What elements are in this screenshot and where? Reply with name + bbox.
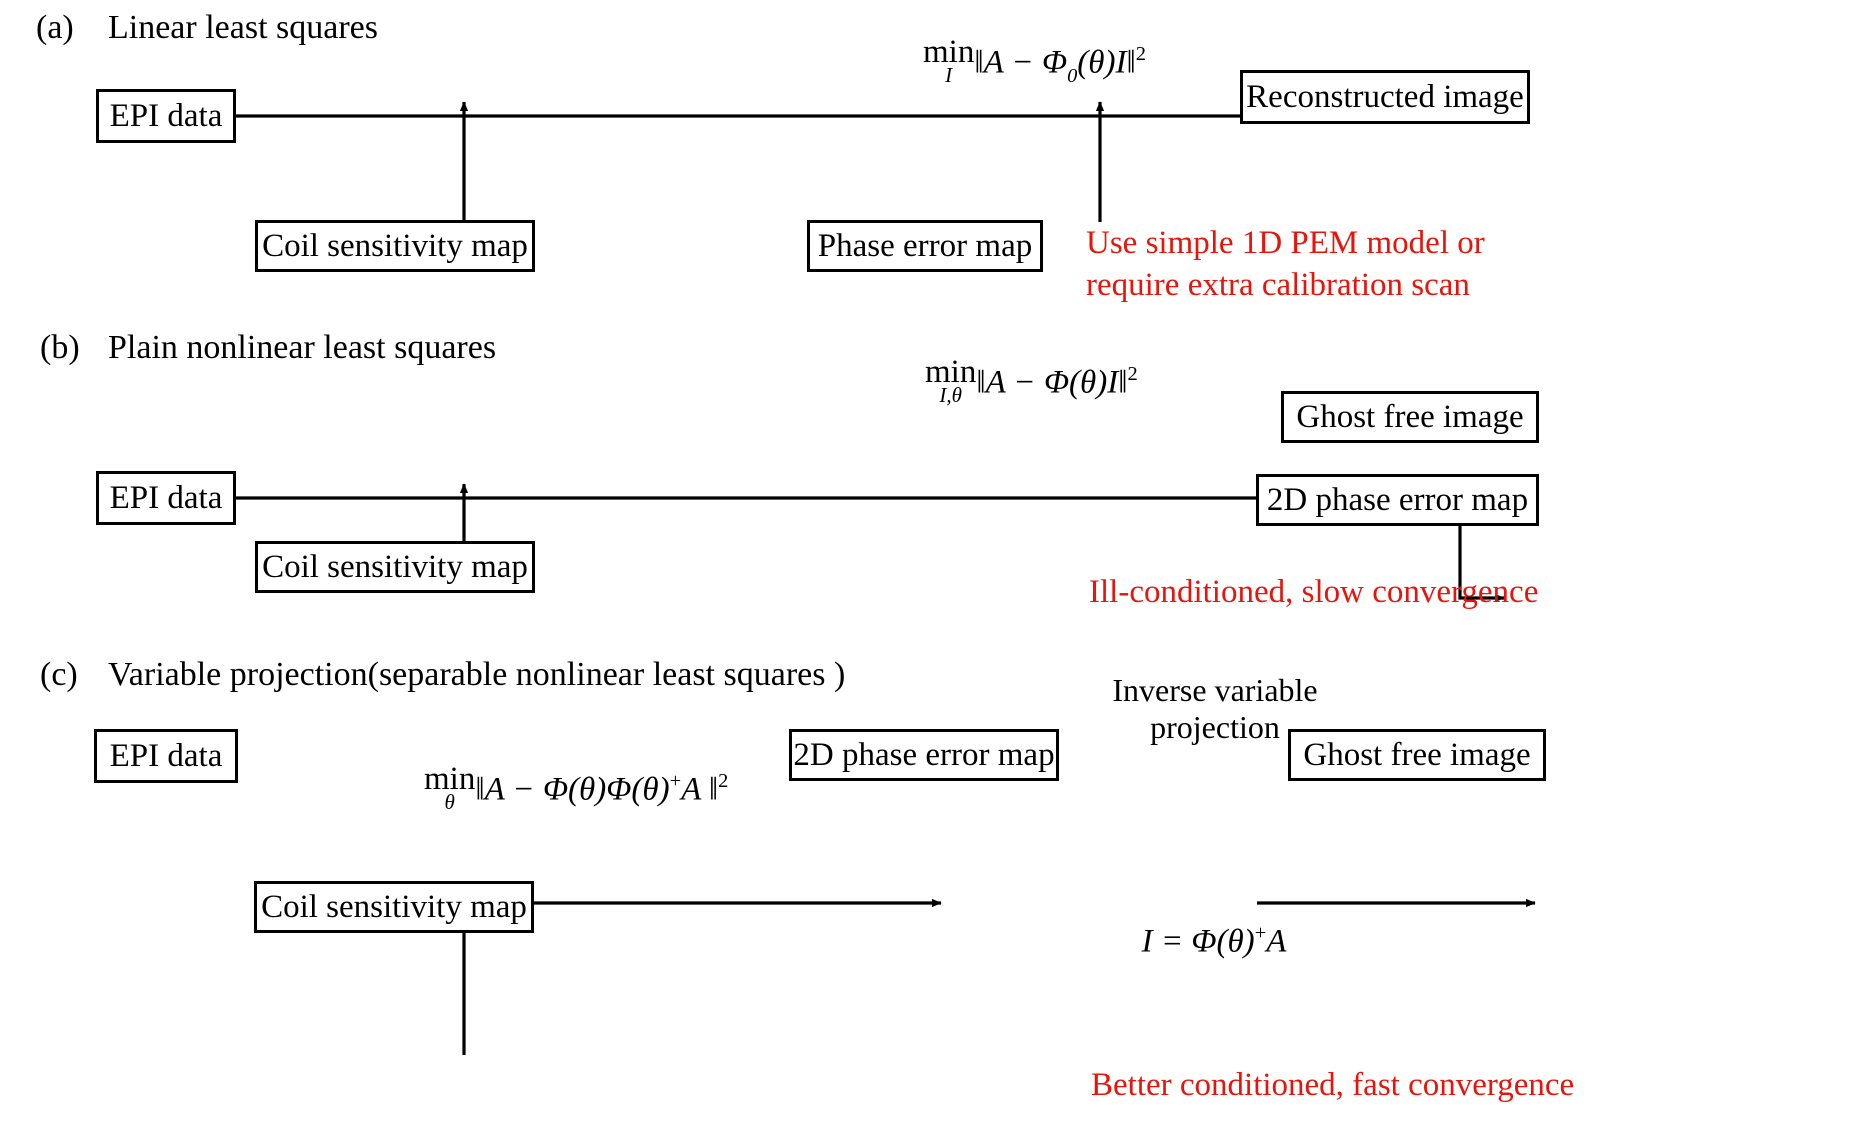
node-a-reconstructed-image[interactable]: Reconstructed image [1240, 70, 1530, 124]
formula-a-body-post: (θ)I‖ [1077, 45, 1135, 81]
panel-a-tag: (a) [36, 8, 74, 48]
node-a-reconstructed-image-label: Reconstructed image [1246, 78, 1524, 116]
node-c-2d-phase-error-map-label: 2D phase error map [793, 736, 1054, 774]
formula-a-body-pre: ‖A − Φ [974, 45, 1067, 81]
node-a-coil-sensitivity-map[interactable]: Coil sensitivity map [255, 220, 535, 272]
formula-a-min: min I [923, 37, 974, 85]
note-a: Use simple 1D PEM model or require extra… [1086, 222, 1485, 306]
note-b-line-1: Ill-conditioned, slow convergence [1089, 571, 1538, 613]
note-b: Ill-conditioned, slow convergence [1089, 571, 1538, 613]
note-c-line-1: Better conditioned, fast convergence [1091, 1064, 1574, 1106]
edge-formula-c-post: A [1266, 924, 1286, 960]
node-c-2d-phase-error-map[interactable]: 2D phase error map [789, 729, 1059, 781]
panel-b-tag: (b) [40, 328, 80, 368]
node-b-coil-sensitivity-map-label: Coil sensitivity map [262, 548, 528, 586]
formula-a-body-subscript: 0 [1067, 65, 1077, 87]
node-c-epi-data-label: EPI data [110, 737, 223, 775]
node-c-coil-sensitivity-map-label: Coil sensitivity map [261, 888, 527, 926]
edge-label-c-inverse-projection: Inverse variable projection [1075, 672, 1355, 746]
note-c: Better conditioned, fast convergence [1091, 1064, 1574, 1106]
node-a-phase-error-map[interactable]: Phase error map [807, 220, 1043, 272]
node-a-phase-error-map-label: Phase error map [818, 227, 1032, 265]
formula-a-body-superscript: 2 [1136, 43, 1146, 65]
formula-a: min I ‖A − Φ0(θ)I‖2 [923, 36, 1146, 94]
node-a-coil-sensitivity-map-label: Coil sensitivity map [262, 227, 528, 265]
formula-c-body-pre: ‖A − Φ(θ)Φ(θ) [475, 772, 669, 808]
node-c-coil-sensitivity-map[interactable]: Coil sensitivity map [254, 881, 534, 933]
formula-b-body-superscript: 2 [1128, 363, 1138, 385]
node-c-epi-data[interactable]: EPI data [94, 729, 238, 783]
edge-label-c-line-1: Inverse variable [1075, 672, 1355, 709]
node-a-epi-data-label: EPI data [110, 97, 223, 135]
node-b-coil-sensitivity-map[interactable]: Coil sensitivity map [255, 541, 535, 593]
formula-b-min: min I,θ [925, 357, 976, 405]
panel-a-title: Linear least squares [108, 8, 378, 48]
edge-formula-c-pre: I = Φ(θ) [1142, 924, 1255, 960]
edge-formula-c-superscript: + [1255, 922, 1267, 944]
node-b-epi-data[interactable]: EPI data [96, 471, 236, 525]
formula-c-body-mid: A ‖ [681, 772, 718, 808]
node-b-ghost-free-image[interactable]: Ghost free image [1281, 391, 1539, 443]
panel-c-tag: (c) [40, 655, 78, 695]
edge-label-c-line-2: projection [1075, 709, 1355, 746]
formula-c-min: min θ [424, 764, 475, 812]
formula-c-body-superscript-plus: + [670, 770, 682, 792]
node-b-2d-phase-error-map[interactable]: 2D phase error map [1256, 474, 1539, 526]
panel-c-title: Variable projection(separable nonlinear … [108, 655, 845, 695]
node-b-2d-phase-error-map-label: 2D phase error map [1267, 481, 1528, 519]
edge-formula-c-inverse: I = Φ(θ)+A [1089, 915, 1339, 960]
formula-b-body: ‖A − Φ(θ)I‖ [976, 365, 1127, 401]
node-b-ghost-free-image-label: Ghost free image [1296, 398, 1523, 436]
formula-b: min I,θ ‖A − Φ(θ)I‖2 [925, 356, 1138, 409]
formula-c-body-superscript-two: 2 [718, 770, 728, 792]
node-b-epi-data-label: EPI data [110, 479, 223, 517]
figure-canvas: (a) Linear least squares EPI data Coil s… [0, 0, 1865, 1128]
note-a-line-1: Use simple 1D PEM model or [1086, 222, 1485, 264]
formula-c: min θ ‖A − Φ(θ)Φ(θ)+A ‖2 [424, 763, 728, 816]
node-a-epi-data[interactable]: EPI data [96, 89, 236, 143]
note-a-line-2: require extra calibration scan [1086, 264, 1485, 306]
panel-b-title: Plain nonlinear least squares [108, 328, 496, 368]
